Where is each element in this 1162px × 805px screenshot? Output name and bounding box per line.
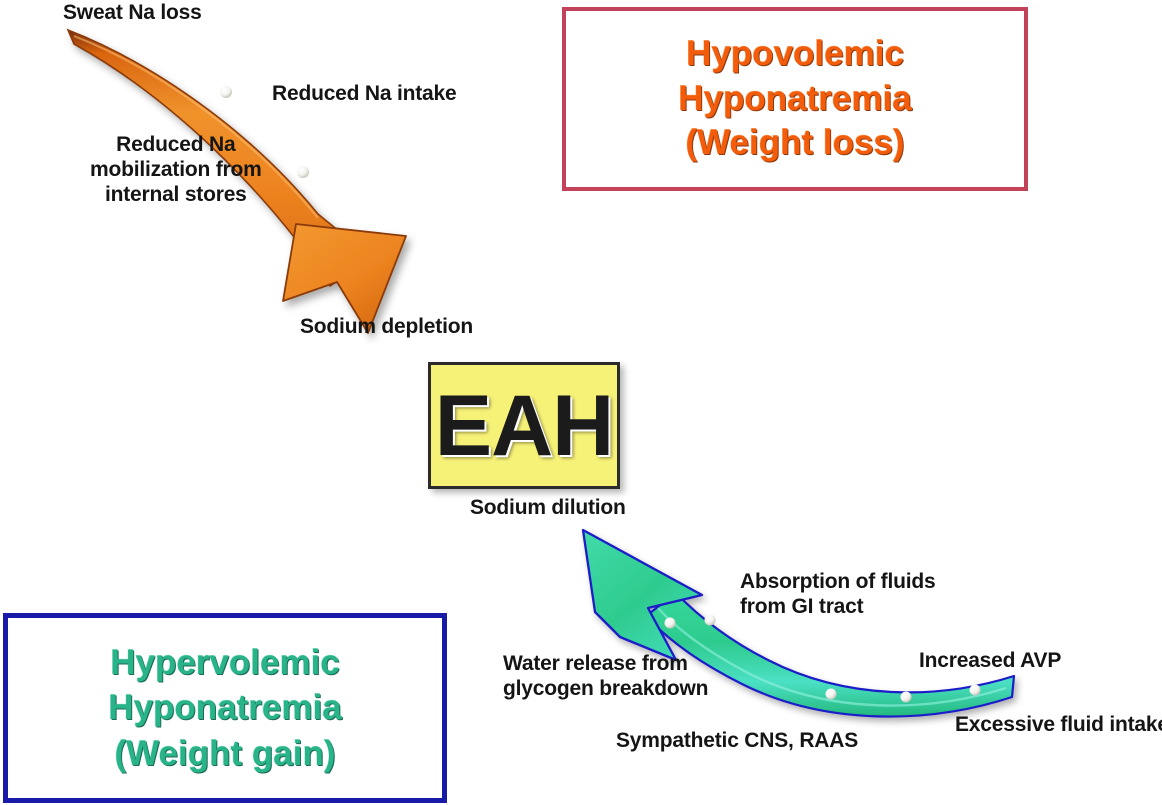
label-reduced-na-intake: Reduced Na intake [272,82,457,107]
diagram-canvas: EAH Hypovolemic Hyponatremia (Weight los… [0,0,1162,805]
hypovolemic-line-1: Hypovolemic [686,32,904,77]
label-water-release-glycogen: Water release from glycogen breakdown [503,652,708,702]
hypovolemic-hyponatremia-box: Hypovolemic Hyponatremia (Weight loss) [562,7,1028,191]
label-absorption-of-fluids: Absorption of fluids from GI tract [740,570,935,620]
label-reduced-na-mobilization: Reduced Na mobilization from internal st… [90,133,262,207]
label-sodium-dilution: Sodium dilution [470,496,626,521]
hypovolemic-line-2: Hyponatremia [678,77,911,122]
hypervolemic-hyponatremia-box: Hypervolemic Hyponatremia (Weight gain) [3,613,447,803]
eah-label: EAH [435,383,614,469]
hypervolemic-line-1: Hypervolemic [110,640,340,686]
label-sweat-na-loss: Sweat Na loss [63,1,202,26]
label-excessive-fluid-intake: Excessive fluid intake [955,713,1162,738]
label-sympathetic-cns-raas: Sympathetic CNS, RAAS [616,729,858,754]
hypervolemic-line-2: Hyponatremia [108,685,341,731]
label-sodium-depletion: Sodium depletion [300,315,473,340]
hypervolemic-line-3: (Weight gain) [115,731,336,777]
eah-box: EAH [428,362,620,489]
hypovolemic-line-3: (Weight loss) [685,121,904,166]
label-increased-avp: Increased AVP [919,649,1061,674]
